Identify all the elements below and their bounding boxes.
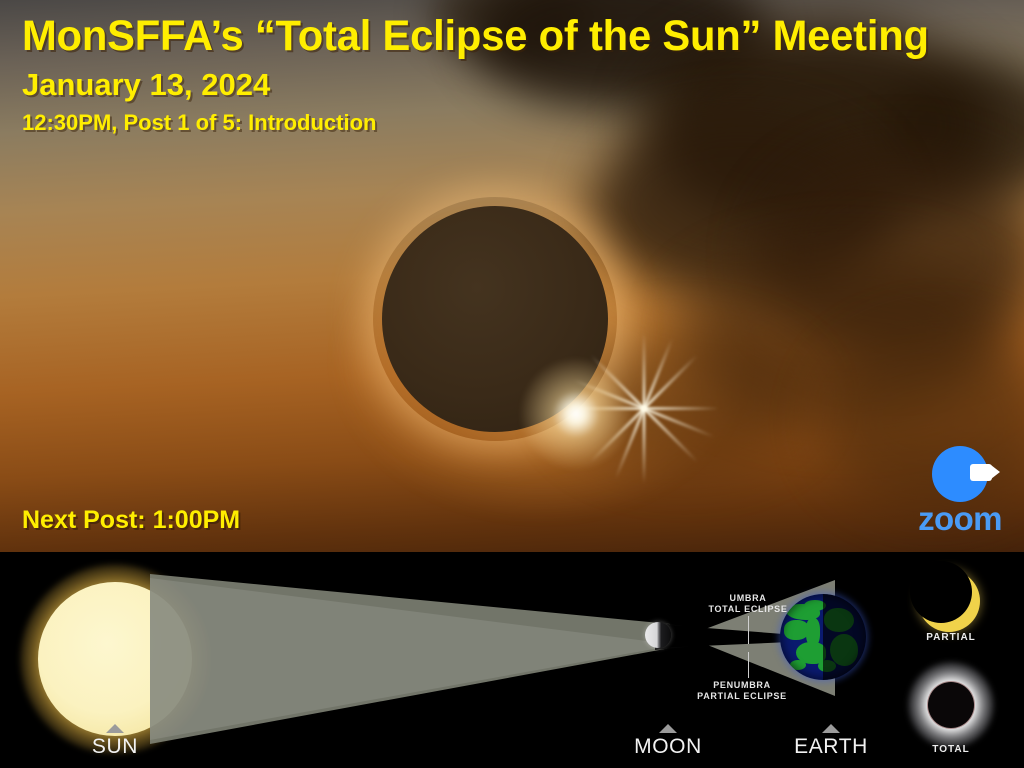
- eclipse-photo: MonSFFA’s “Total Eclipse of the Sun” Mee…: [0, 0, 1024, 552]
- post-info: 12:30PM, Post 1 of 5: Introduction: [22, 111, 957, 135]
- eclipse-meeting-slide: MonSFFA’s “Total Eclipse of the Sun” Mee…: [0, 0, 1024, 768]
- umbra-label-line2: TOTAL ECLIPSE: [688, 604, 808, 615]
- earth-caption-text: EARTH: [794, 735, 868, 758]
- zoom-wordmark: zoom: [908, 502, 1012, 535]
- pointer-triangle-icon: [659, 724, 677, 733]
- total-eclipse-thumbnail: TOTAL: [908, 662, 994, 748]
- diamond-ring-flare: [511, 349, 641, 479]
- partial-occluder: [910, 561, 972, 623]
- eclipse-geometry-diagram: UMBRA TOTAL ECLIPSE PENUMBRA PARTIAL ECL…: [0, 552, 1024, 768]
- meeting-date: January 13, 2024: [22, 68, 957, 102]
- partial-thumbnail-label: PARTIAL: [912, 632, 990, 643]
- earth-caption: EARTH: [756, 724, 906, 759]
- moon-caption: MOON: [601, 724, 735, 759]
- sun-caption-text: SUN: [92, 735, 138, 758]
- page-title: MonSFFA’s “Total Eclipse of the Sun” Mee…: [22, 14, 929, 59]
- moon-body: [645, 622, 671, 648]
- penumbra-label: PENUMBRA PARTIAL ECLIPSE: [676, 680, 808, 703]
- eclipse-disc: [373, 197, 617, 441]
- zoom-circle-badge: [932, 446, 988, 502]
- partial-crescent: [918, 570, 980, 632]
- title-block: MonSFFA’s “Total Eclipse of the Sun” Mee…: [22, 14, 957, 135]
- moon-caption-text: MOON: [634, 735, 702, 758]
- penumbra-label-line2: PARTIAL ECLIPSE: [676, 691, 808, 702]
- partial-eclipse-thumbnail: PARTIAL: [912, 570, 990, 636]
- penumbra-leader-line: [748, 652, 749, 678]
- zoom-logo[interactable]: zoom: [908, 446, 1012, 542]
- pointer-triangle-icon: [822, 724, 840, 733]
- sun-caption: SUN: [48, 724, 182, 759]
- total-eclipse-disc: [928, 682, 974, 728]
- pointer-triangle-icon: [106, 724, 124, 733]
- video-camera-icon: [970, 464, 992, 481]
- umbra-label: UMBRA TOTAL ECLIPSE: [688, 593, 808, 616]
- penumbra-label-line1: PENUMBRA: [676, 680, 808, 691]
- video-camera-lens-icon: [991, 465, 1000, 479]
- umbra-label-line1: UMBRA: [688, 593, 808, 604]
- next-post-label: Next Post: 1:00PM: [22, 506, 240, 535]
- umbra-leader-line: [748, 616, 749, 644]
- total-thumbnail-label: TOTAL: [908, 744, 994, 755]
